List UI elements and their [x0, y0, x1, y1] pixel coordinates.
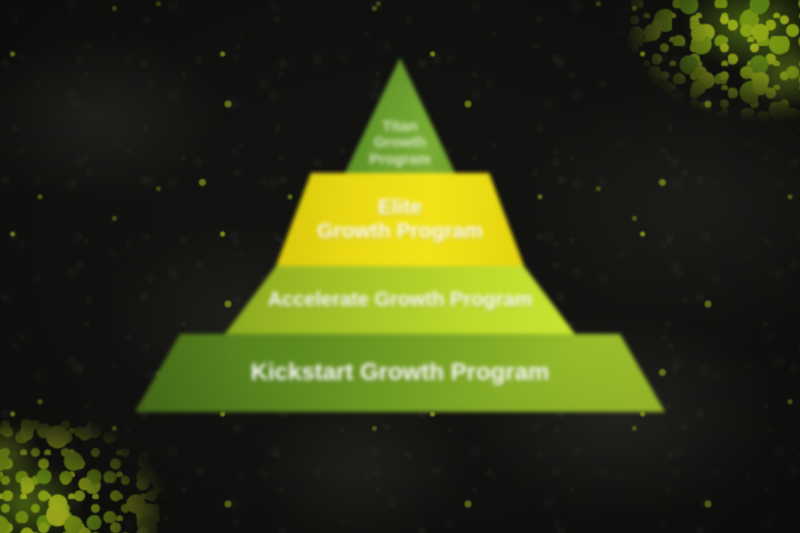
pyramid-tier-accelerate: Accelerate Growth Program [225, 266, 575, 334]
pyramid-tier-titan-label: Titan Growth Program [369, 119, 431, 169]
pyramid-tier-titan: Titan Growth Program [345, 58, 455, 173]
pyramid-graphic: Titan Growth Program Elite Growth Progra… [0, 0, 800, 533]
pyramid-tier-kickstart: Kickstart Growth Program [135, 334, 665, 412]
pyramid-tier-elite: Elite Growth Program [276, 173, 524, 266]
pyramid-tier-elite-label: Elite Growth Program [317, 196, 483, 243]
pyramid-tier-accelerate-label: Accelerate Growth Program [268, 289, 533, 311]
pyramid-infographic: Titan Growth Program Elite Growth Progra… [0, 0, 800, 533]
pyramid-tier-kickstart-label: Kickstart Growth Program [251, 360, 550, 387]
